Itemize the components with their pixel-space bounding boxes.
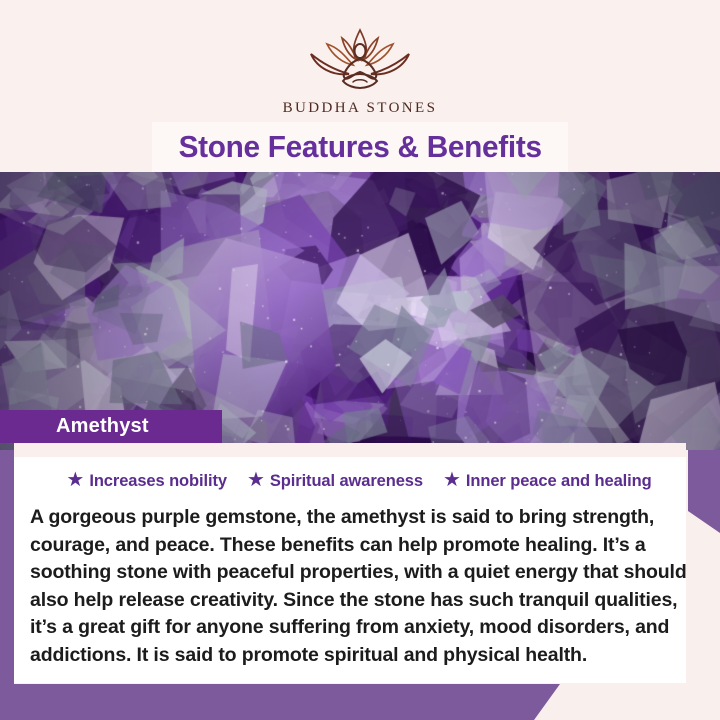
brand-logo: BUDDHA STONES [0, 24, 720, 117]
stone-name-label: Amethyst [0, 415, 149, 438]
infographic-card: BUDDHA STONES Stone Features & Benefits … [0, 0, 720, 720]
frame-left-lower-bar [0, 440, 14, 720]
benefit-label: Spiritual awareness [270, 472, 423, 491]
content-top-tint [14, 443, 686, 457]
brand-name: BUDDHA STONES [283, 100, 438, 117]
hero-image [0, 172, 720, 450]
frame-bottom-bar [0, 684, 560, 720]
star-icon: ★ [443, 470, 461, 490]
benefits-row: ★Increases nobility★Spiritual awareness★… [14, 466, 704, 496]
star-icon: ★ [66, 470, 84, 490]
amethyst-crystal-image [0, 172, 720, 450]
benefit-item: ★Inner peace and healing [443, 471, 652, 491]
benefit-label: Increases nobility [89, 472, 227, 491]
page-title: Stone Features & Benefits [178, 129, 541, 165]
lotus-meditation-icon [285, 24, 435, 94]
header: BUDDHA STONES Stone Features & Benefits [0, 0, 720, 172]
description-text: A gorgeous purple gemstone, the amethyst… [30, 504, 695, 669]
title-banner: Stone Features & Benefits [152, 122, 568, 172]
benefit-label: Inner peace and healing [466, 472, 652, 491]
benefit-item: ★Spiritual awareness [247, 471, 423, 491]
benefit-item: ★Increases nobility [66, 471, 227, 491]
stone-name-badge: Amethyst [0, 410, 222, 443]
star-icon: ★ [247, 470, 265, 490]
